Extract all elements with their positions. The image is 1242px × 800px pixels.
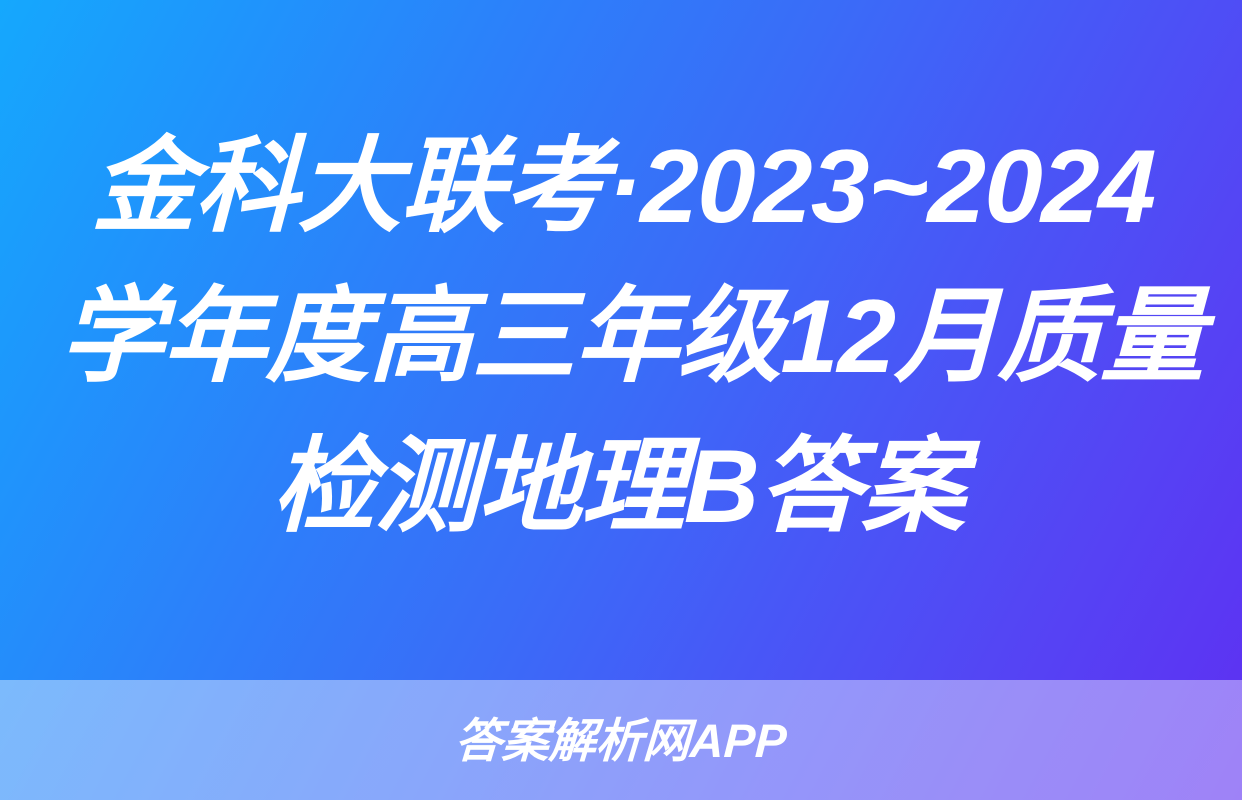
title-line-2: 学年度高三年级12月质量 — [59, 262, 1184, 412]
hero-section: 金科大联考·2023~2024 学年度高三年级12月质量 检测地理B答案 — [0, 0, 1242, 680]
title-line-3: 检测地理B答案 — [56, 412, 1181, 562]
page-title: 金科大联考·2023~2024 学年度高三年级12月质量 检测地理B答案 — [56, 112, 1186, 562]
app-watermark-label: 答案解析网APP — [454, 717, 788, 764]
title-line-1: 金科大联考·2023~2024 — [61, 112, 1186, 262]
footer-watermark-band: 答案解析网APP — [0, 680, 1242, 800]
cover-canvas: 金科大联考·2023~2024 学年度高三年级12月质量 检测地理B答案 答案解… — [0, 0, 1242, 800]
